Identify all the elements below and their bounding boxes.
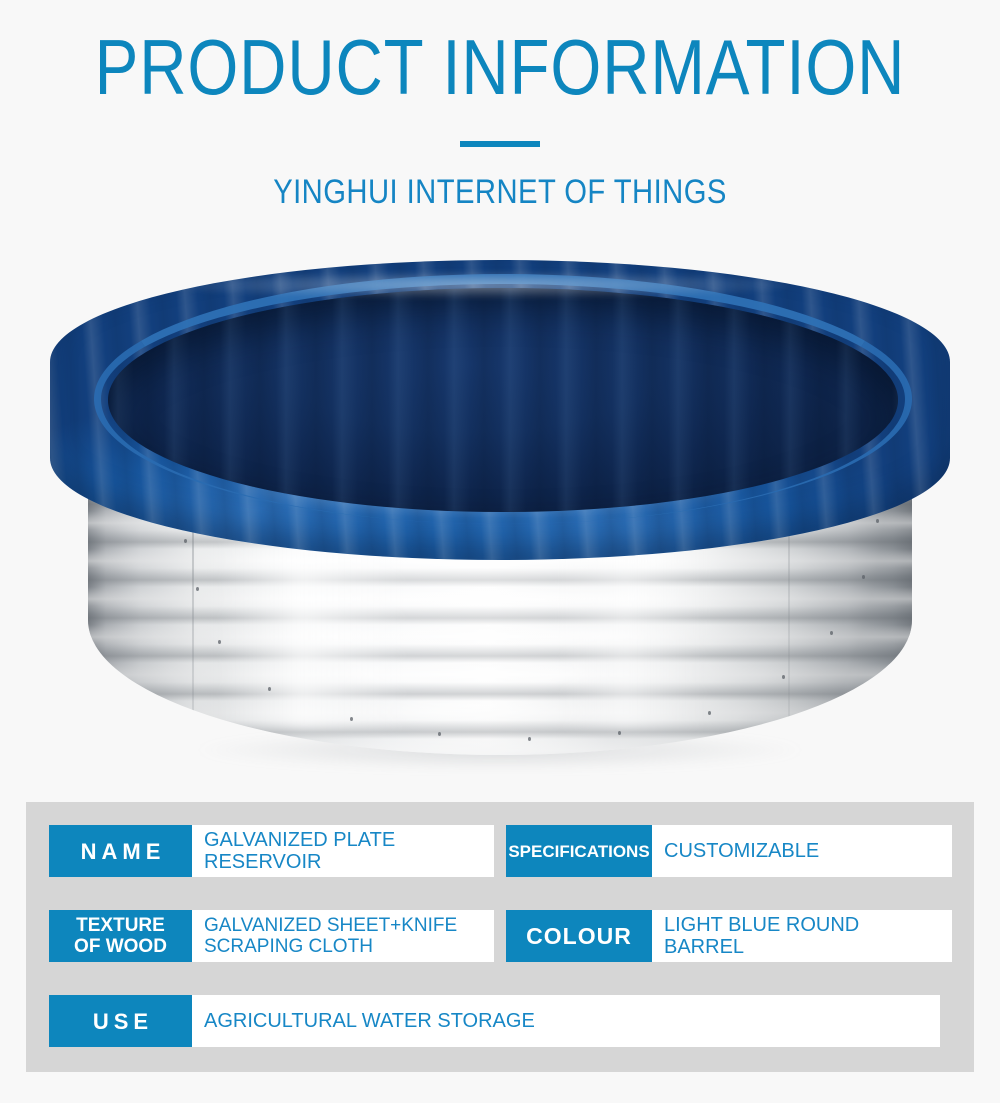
title-divider xyxy=(460,141,540,147)
spec-label-name: NAME xyxy=(49,825,192,877)
spec-label-specifications: SPECIFICATIONS xyxy=(506,825,652,877)
cell-gap xyxy=(494,910,506,962)
spec-cell-colour: COLOUR LIGHT BLUE ROUND BARREL xyxy=(506,910,952,962)
spec-value-name: GALVANIZED PLATE RESERVOIR xyxy=(192,825,494,877)
water-tank-illustration xyxy=(50,260,950,780)
spec-cell-use: USE AGRICULTURAL WATER STORAGE xyxy=(49,995,940,1047)
page-header: PRODUCT INFORMATION YINGHUI INTERNET OF … xyxy=(0,0,1000,232)
spec-value-colour: LIGHT BLUE ROUND BARREL xyxy=(652,910,952,962)
spec-row: USE AGRICULTURAL WATER STORAGE xyxy=(49,995,940,1047)
spec-label-colour: COLOUR xyxy=(506,910,652,962)
specification-panel: NAME GALVANIZED PLATE RESERVOIR SPECIFIC… xyxy=(26,802,974,1072)
spec-row: TEXTURE OF WOOD GALVANIZED SHEET+KNIFE S… xyxy=(49,910,952,962)
product-photo xyxy=(0,232,1000,792)
rim-sheen xyxy=(170,272,790,298)
spec-row: NAME GALVANIZED PLATE RESERVOIR SPECIFIC… xyxy=(49,825,952,877)
spec-value-use: AGRICULTURAL WATER STORAGE xyxy=(192,995,940,1047)
spec-label-texture: TEXTURE OF WOOD xyxy=(49,910,192,962)
spec-value-texture: GALVANIZED SHEET+KNIFE SCRAPING CLOTH xyxy=(192,910,494,962)
spec-label-use: USE xyxy=(49,995,192,1047)
spec-cell-texture: TEXTURE OF WOOD GALVANIZED SHEET+KNIFE S… xyxy=(49,910,494,962)
spec-value-specifications: CUSTOMIZABLE xyxy=(652,825,952,877)
page-title: PRODUCT INFORMATION xyxy=(80,26,920,108)
cell-gap xyxy=(494,825,506,877)
liner-top-rim xyxy=(94,274,912,524)
spec-cell-name: NAME GALVANIZED PLATE RESERVOIR xyxy=(49,825,494,877)
page-subtitle: YINGHUI INTERNET OF THINGS xyxy=(70,172,930,212)
spec-cell-specifications: SPECIFICATIONS CUSTOMIZABLE xyxy=(506,825,952,877)
